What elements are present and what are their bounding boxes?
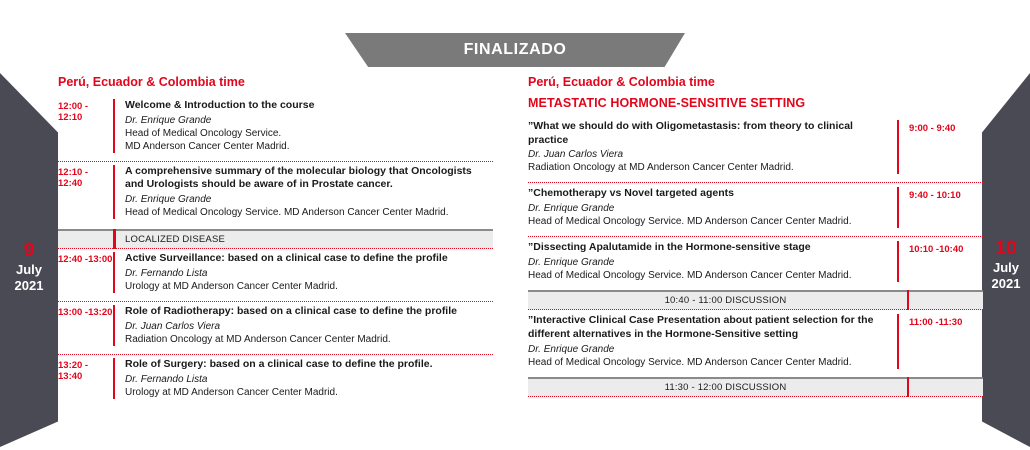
session-title: Active Surveillance: based on a clinical… <box>125 252 493 266</box>
session-title: ”Interactive Clinical Case Presentation … <box>528 314 887 342</box>
session-title: ”Dissecting Apalutamide in the Hormone-s… <box>528 241 887 255</box>
session-time: 12:40 -13:00 <box>58 252 113 293</box>
session-affiliation: Head of Medical Oncology Service. MD And… <box>528 215 887 228</box>
session-time: 12:00 - 12:10 <box>58 99 113 153</box>
agenda-row: ”Chemotherapy vs Novel targeted agents D… <box>528 183 983 237</box>
session-affiliation: Head of Medical Oncology Service. <box>125 127 493 140</box>
session-body: Welcome & Introduction to the course Dr.… <box>113 99 493 153</box>
agenda-rows-day-2: ”What we should do with Oligometastasis:… <box>528 116 983 397</box>
timezone-heading-day-1: Perú, Ecuador & Colombia time <box>58 76 493 90</box>
date-plate-day-1: 9 July 2021 <box>0 22 58 447</box>
session-body: ”Chemotherapy vs Novel targeted agents D… <box>528 187 899 228</box>
timezone-heading-day-2: Perú, Ecuador & Colombia time <box>528 76 983 90</box>
session-affiliation-line-2: MD Anderson Cancer Center Madrid. <box>125 140 493 153</box>
session-affiliation: Head of Medical Oncology Service. MD And… <box>528 269 887 282</box>
session-speaker: Dr. Enrique Grande <box>125 114 493 127</box>
session-time: 9:40 - 10:10 <box>899 187 983 228</box>
agenda-row: 13:00 -13:20 Role of Radiotherapy: based… <box>58 302 493 355</box>
session-time: 11:00 -11:30 <box>899 314 983 369</box>
session-speaker: Dr. Juan Carlos Viera <box>125 320 493 333</box>
session-body: Role of Surgery: based on a clinical cas… <box>113 358 493 399</box>
session-title: Role of Radiotherapy: based on a clinica… <box>125 305 493 319</box>
date-day-number-1: 9 <box>0 240 58 262</box>
session-time: 9:00 - 9:40 <box>899 120 983 175</box>
session-speaker: Dr. Enrique Grande <box>528 256 887 269</box>
session-speaker: Dr. Enrique Grande <box>528 343 887 356</box>
section-band-localized-disease: LOCALIZED DISEASE <box>58 229 493 249</box>
session-speaker: Dr. Enrique Grande <box>125 193 493 206</box>
agenda-row: ”What we should do with Oligometastasis:… <box>528 116 983 184</box>
section-heading-metastatic: METASTATIC HORMONE-SENSITIVE SETTING <box>528 96 983 110</box>
session-time: 12:10 - 12:40 <box>58 165 113 220</box>
session-time: 13:00 -13:20 <box>58 305 113 346</box>
session-title: Welcome & Introduction to the course <box>125 99 493 113</box>
discussion-band-label: 10:40 - 11:00 DISCUSSION <box>528 295 983 306</box>
session-body: A comprehensive summary of the molecular… <box>113 165 493 220</box>
session-speaker: Dr. Fernando Lista <box>125 373 493 386</box>
session-affiliation: Radiation Oncology at MD Anderson Cancer… <box>528 161 887 174</box>
status-banner-label: FINALIZADO <box>464 41 567 59</box>
session-body: ”What we should do with Oligometastasis:… <box>528 120 899 175</box>
session-affiliation: Radiation Oncology at MD Anderson Cancer… <box>125 333 493 346</box>
agenda-column-day-2: Perú, Ecuador & Colombia time METASTATIC… <box>528 76 983 397</box>
session-body: Active Surveillance: based on a clinical… <box>113 252 493 293</box>
status-banner: FINALIZADO <box>345 33 685 67</box>
agenda-rows-day-1: 12:00 - 12:10 Welcome & Introduction to … <box>58 96 493 407</box>
date-year-1: 2021 <box>0 278 58 293</box>
agenda-row: 12:10 - 12:40 A comprehensive summary of… <box>58 162 493 228</box>
date-month-1: July <box>0 262 58 277</box>
session-title: Role of Surgery: based on a clinical cas… <box>125 358 493 372</box>
agenda-row: 12:00 - 12:10 Welcome & Introduction to … <box>58 96 493 162</box>
agenda-row: ”Interactive Clinical Case Presentation … <box>528 310 983 377</box>
section-band-label: LOCALIZED DISEASE <box>58 234 225 245</box>
session-title: A comprehensive summary of the molecular… <box>125 165 493 193</box>
agenda-row: ”Dissecting Apalutamide in the Hormone-s… <box>528 237 983 290</box>
date-day-number-2: 10 <box>982 238 1030 260</box>
timeline-rule-tick <box>113 229 116 249</box>
agenda-row: 13:20 - 13:40 Role of Surgery: based on … <box>58 355 493 407</box>
agenda-row: 12:40 -13:00 Active Surveillance: based … <box>58 249 493 302</box>
session-speaker: Dr. Fernando Lista <box>125 267 493 280</box>
agenda-column-day-1: Perú, Ecuador & Colombia time 12:00 - 12… <box>58 76 493 407</box>
discussion-band-2: 11:30 - 12:00 DISCUSSION <box>528 377 983 397</box>
session-time: 13:20 - 13:40 <box>58 358 113 399</box>
timeline-rule-tick <box>907 377 910 397</box>
session-title: ”Chemotherapy vs Novel targeted agents <box>528 187 887 201</box>
timeline-rule-tick <box>907 290 910 310</box>
session-affiliation: Urology at MD Anderson Cancer Center Mad… <box>125 280 493 293</box>
session-speaker: Dr. Juan Carlos Viera <box>528 148 887 161</box>
date-month-2: July <box>982 260 1030 275</box>
session-speaker: Dr. Enrique Grande <box>528 202 887 215</box>
session-time: 10:10 -10:40 <box>899 241 983 282</box>
session-title: ”What we should do with Oligometastasis:… <box>528 120 887 148</box>
session-body: ”Interactive Clinical Case Presentation … <box>528 314 899 369</box>
date-year-2: 2021 <box>982 276 1030 291</box>
session-affiliation: Urology at MD Anderson Cancer Center Mad… <box>125 386 493 399</box>
session-affiliation: Head of Medical Oncology Service. MD And… <box>125 206 493 219</box>
session-body: Role of Radiotherapy: based on a clinica… <box>113 305 493 346</box>
discussion-band-1: 10:40 - 11:00 DISCUSSION <box>528 290 983 310</box>
session-body: ”Dissecting Apalutamide in the Hormone-s… <box>528 241 899 282</box>
session-affiliation: Head of Medical Oncology Service. MD And… <box>528 356 887 369</box>
discussion-band-label: 11:30 - 12:00 DISCUSSION <box>528 382 983 393</box>
date-plate-day-2: 10 July 2021 <box>982 22 1030 447</box>
